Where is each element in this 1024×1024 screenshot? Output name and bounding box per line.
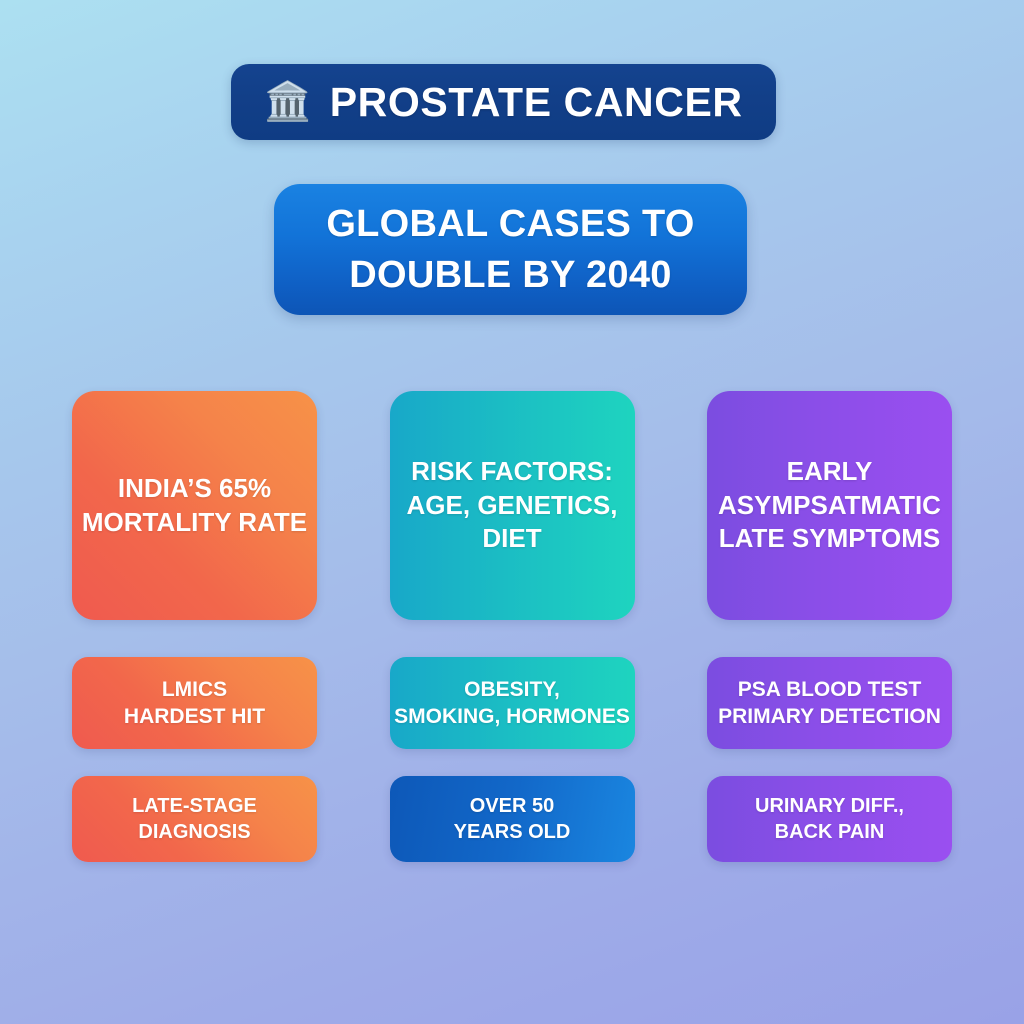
card-row-1: INDIA’S 65% MORTALITY RATE RISK FACTORS:…	[72, 391, 952, 620]
card-row-3: LATE-STAGE DIAGNOSIS OVER 50 YEARS OLD U…	[72, 776, 952, 862]
header-banner: 🏛️ PROSTATE CANCER	[231, 64, 776, 140]
subtitle-line-1: GLOBAL CASES TO	[326, 199, 694, 250]
card-early-symptoms: EARLY ASYMPSATMATIC LATE SYMPTOMS	[707, 391, 952, 620]
infographic-poster: 🏛️ PROSTATE CANCER GLOBAL CASES TO DOUBL…	[0, 0, 1024, 1024]
card-lmics-hardest-hit: LMICS HARDEST HIT	[72, 657, 317, 749]
card-late-stage-diagnosis: LATE-STAGE DIAGNOSIS	[72, 776, 317, 862]
subtitle-line-2: DOUBLE BY 2040	[349, 250, 671, 301]
classical-building-icon: 🏛️	[264, 83, 311, 121]
card-text: INDIA’S 65% MORTALITY RATE	[82, 472, 307, 540]
card-text: OVER 50 YEARS OLD	[454, 793, 571, 845]
card-psa-blood-test: PSA BLOOD TEST PRIMARY DETECTION	[707, 657, 952, 749]
card-text: LMICS HARDEST HIT	[124, 676, 265, 731]
card-risk-factors: RISK FACTORS: AGE, GENETICS, DIET	[390, 391, 635, 620]
card-india-mortality: INDIA’S 65% MORTALITY RATE	[72, 391, 317, 620]
card-obesity-smoking-hormones: OBESITY, SMOKING, HORMONES	[390, 657, 635, 749]
card-over-50-years-old: OVER 50 YEARS OLD	[390, 776, 635, 862]
subtitle-banner: GLOBAL CASES TO DOUBLE BY 2040	[274, 184, 747, 315]
card-grid: INDIA’S 65% MORTALITY RATE RISK FACTORS:…	[72, 391, 952, 862]
page-title: PROSTATE CANCER	[330, 79, 743, 126]
card-text: LATE-STAGE DIAGNOSIS	[132, 793, 257, 845]
card-text: URINARY DIFF., BACK PAIN	[755, 793, 904, 845]
card-text: PSA BLOOD TEST PRIMARY DETECTION	[718, 676, 941, 731]
card-text: OBESITY, SMOKING, HORMONES	[394, 676, 630, 731]
card-text: EARLY ASYMPSATMATIC LATE SYMPTOMS	[718, 455, 941, 556]
card-urinary-back-pain: URINARY DIFF., BACK PAIN	[707, 776, 952, 862]
card-text: RISK FACTORS: AGE, GENETICS, DIET	[407, 455, 618, 556]
card-row-2: LMICS HARDEST HIT OBESITY, SMOKING, HORM…	[72, 657, 952, 749]
